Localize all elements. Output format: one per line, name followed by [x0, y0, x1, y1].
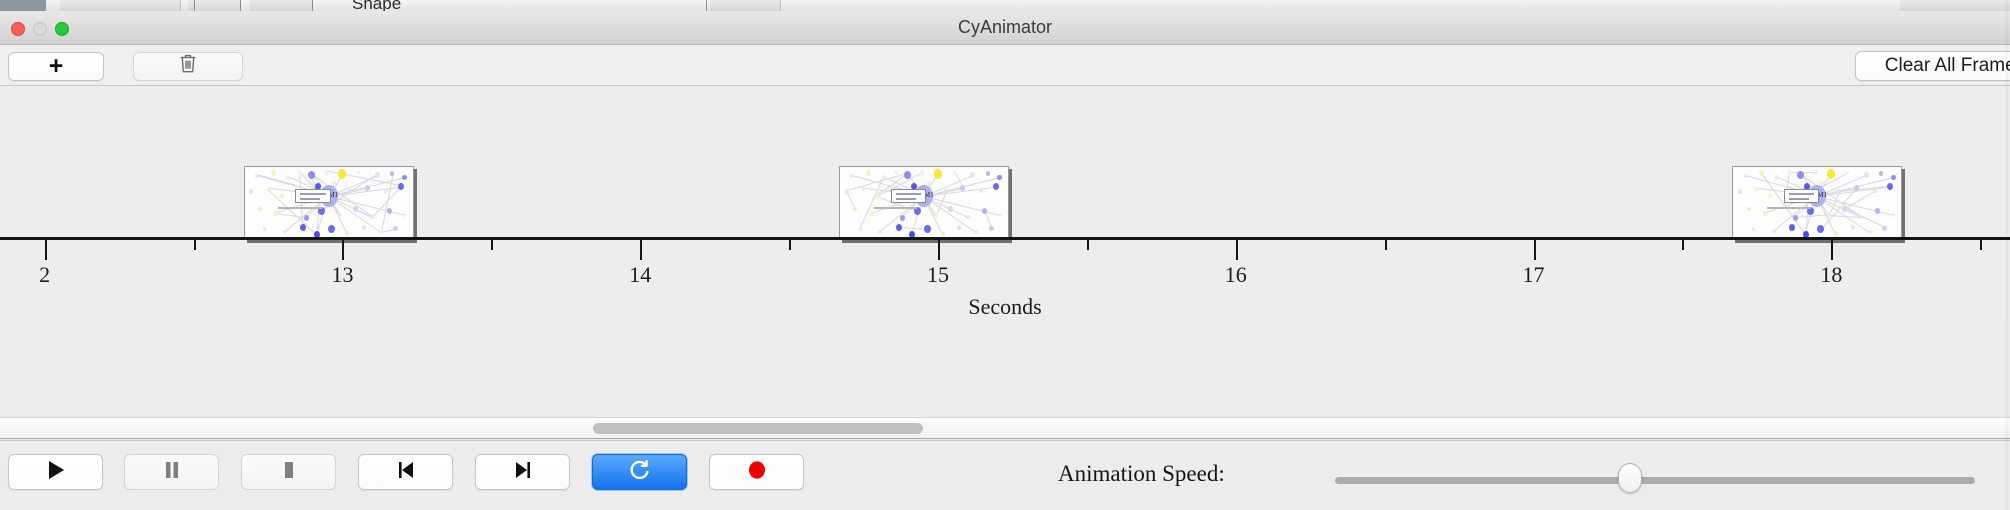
stop-button[interactable]	[241, 454, 336, 490]
timeline-tick-major	[1831, 240, 1833, 260]
graph-node	[370, 215, 374, 220]
graph-node	[255, 174, 258, 177]
timeline-tick-minor	[1385, 240, 1387, 250]
graph-node	[1873, 189, 1877, 194]
graph-node	[1842, 206, 1847, 212]
zoom-button[interactable]	[55, 22, 69, 36]
graph-node	[878, 230, 882, 235]
graph-caption-text	[278, 207, 322, 209]
background-divider	[706, 0, 707, 11]
timeline-frame[interactable]: MCM1	[244, 166, 414, 240]
graph-node	[1834, 231, 1838, 236]
graph-node	[862, 187, 865, 190]
graph-node	[894, 170, 898, 175]
timeline-panel[interactable]: MCM1MCM1MCM1	[0, 86, 2010, 323]
graph-node	[1868, 230, 1872, 235]
graph-edge	[1761, 173, 1805, 235]
graph-node	[859, 227, 862, 230]
graph-node	[390, 171, 394, 176]
graph-node	[986, 171, 990, 176]
timeline-frame[interactable]: MCM1	[1732, 166, 1902, 240]
graph-node	[1775, 175, 1779, 180]
graph-node	[1793, 215, 1798, 221]
background-divider	[240, 0, 241, 11]
graph-node	[989, 226, 994, 232]
graph-node	[283, 230, 287, 235]
graph-node	[1787, 170, 1791, 175]
play-icon	[46, 459, 66, 485]
trash-icon	[178, 53, 198, 80]
delete-frame-button[interactable]	[133, 52, 243, 81]
skip-end-icon	[512, 459, 534, 485]
graph-node	[896, 224, 902, 231]
graph-node	[970, 172, 975, 178]
graph-node	[1772, 230, 1776, 235]
timeline-tick-label: 13	[331, 262, 353, 288]
graph-node	[850, 174, 853, 177]
graph-node	[384, 189, 388, 194]
graph-node	[304, 215, 309, 221]
timeline-tick-major	[1534, 240, 1536, 260]
skip-to-start-button[interactable]	[358, 454, 453, 490]
graph-node	[904, 171, 911, 179]
graph-node	[379, 230, 383, 235]
cyanimator-window: Shape CyAnimator + Clear All	[0, 0, 2010, 510]
frame-thumbnail-image: MCM1	[840, 167, 1008, 239]
graph-node	[1879, 171, 1883, 176]
graph-node	[1859, 215, 1863, 220]
graph-node	[953, 171, 956, 174]
timeline-tick-minor	[491, 240, 493, 250]
graph-node	[882, 175, 886, 180]
graph-node	[1747, 207, 1751, 212]
graph-node	[924, 225, 931, 233]
timeline-tick-minor	[1980, 240, 1982, 250]
background-toolbar-fragment	[710, 0, 781, 11]
playback-control-bar: Animation Speed:	[0, 440, 2010, 510]
skip-start-icon	[395, 459, 417, 485]
graph-node	[1846, 171, 1849, 174]
graph-node	[1768, 194, 1772, 199]
graph-node	[267, 187, 270, 190]
graph-node	[258, 207, 262, 212]
graph-edge	[1796, 215, 1830, 219]
frame-thumbnail-image: MCM1	[1733, 167, 1901, 239]
graph-node	[1851, 225, 1855, 230]
graph-node	[870, 211, 874, 216]
timeline-tick-major	[342, 240, 344, 260]
graph-node	[274, 211, 278, 216]
animation-speed-label: Animation Speed:	[1058, 461, 1225, 487]
timeline-tick-major	[640, 240, 642, 260]
close-button[interactable]	[11, 22, 25, 36]
timeline-tick-label: 15	[927, 262, 949, 288]
background-toolbar-fragment	[1900, 0, 2010, 11]
graph-node	[1814, 170, 1818, 175]
graph-node	[362, 225, 366, 230]
graph-node	[993, 183, 999, 190]
graph-node	[998, 213, 1002, 218]
timeline-tick-minor	[789, 240, 791, 250]
title-bar: CyAnimator	[0, 11, 2010, 45]
graph-node	[402, 213, 406, 218]
graph-node	[300, 224, 306, 231]
graph-node	[853, 207, 857, 212]
graph-node	[1744, 174, 1747, 177]
graph-node	[1738, 189, 1742, 194]
plus-icon: +	[49, 54, 64, 79]
graph-node	[941, 231, 945, 236]
graph-node	[920, 170, 924, 175]
graph-node	[934, 213, 938, 218]
timeline-tick-minor	[194, 240, 196, 250]
graph-node	[365, 185, 370, 191]
graph-node	[345, 231, 349, 236]
pause-icon	[162, 459, 182, 485]
graph-node	[1789, 224, 1795, 231]
traffic-lights	[11, 22, 69, 36]
graph-node	[900, 215, 905, 221]
graph-node	[845, 189, 849, 194]
record-icon	[747, 460, 767, 484]
timeline-tick-major	[1236, 240, 1238, 260]
graph-node	[280, 194, 284, 199]
graph-node	[318, 207, 325, 215]
timeline-hscrollbar[interactable]	[0, 417, 2010, 439]
timeline-tick-label: 16	[1225, 262, 1247, 288]
background-divider	[194, 0, 195, 11]
timeline-hscrollbar-thumb[interactable]	[593, 423, 923, 434]
background-window-label: Shape	[352, 0, 401, 11]
stop-icon	[279, 459, 299, 485]
graph-node	[957, 225, 961, 230]
graph-node	[974, 230, 978, 235]
graph-node	[1797, 171, 1804, 179]
graph-node	[934, 169, 942, 178]
timeline-axis-title: Seconds	[0, 294, 2010, 320]
graph-caption-text	[1767, 207, 1811, 209]
graph-node	[357, 171, 360, 174]
graph-node	[1752, 227, 1755, 230]
graph-node	[1807, 207, 1814, 215]
timeline-tick-minor	[1087, 240, 1089, 250]
graph-node	[997, 175, 1002, 181]
graph-node	[393, 226, 398, 232]
graph-node	[387, 208, 392, 214]
graph-node	[308, 171, 315, 179]
graph-node	[866, 170, 871, 176]
background-toolbar-fragment	[188, 0, 241, 11]
timeline-tick-major	[938, 240, 940, 260]
clear-all-frames-label: Clear All Frames	[1885, 55, 2010, 77]
timeline-tick-label: 14	[629, 262, 651, 288]
graph-node	[338, 213, 342, 218]
graph-node	[1891, 213, 1895, 218]
clear-all-frames-button[interactable]: Clear All Frames	[1855, 51, 2010, 81]
graph-node	[1763, 211, 1767, 216]
minimize-button[interactable]	[33, 22, 47, 36]
graph-node	[1827, 169, 1835, 178]
graph-node	[402, 175, 407, 181]
background-toolbar-fragment	[250, 0, 313, 11]
graph-node	[966, 215, 970, 220]
graph-caption-text	[874, 207, 918, 209]
background-toolbar-fragment	[60, 0, 181, 11]
graph-node	[1875, 208, 1880, 214]
graph-node	[1887, 183, 1893, 190]
graph-annotation-box	[1784, 189, 1820, 203]
graph-node	[1864, 172, 1869, 178]
graph-node	[338, 169, 346, 178]
graph-node	[263, 227, 266, 230]
pause-button[interactable]	[124, 454, 219, 490]
graph-node	[286, 175, 290, 180]
loop-icon	[628, 458, 652, 486]
timeline-axis-line	[0, 237, 2010, 240]
background-window-titlebar-fragment	[0, 0, 46, 11]
timeline-tick-label: 17	[1523, 262, 1545, 288]
timeline-tick-major	[45, 240, 47, 260]
timeline-frame[interactable]: MCM1	[839, 166, 1009, 240]
graph-node	[1891, 175, 1896, 181]
graph-node	[1882, 226, 1887, 232]
toolbar: + Clear All Frames	[0, 45, 2010, 86]
graph-node	[328, 225, 335, 233]
timeline-tick-label: 2	[39, 262, 50, 288]
graph-node	[353, 206, 358, 212]
loop-button[interactable]	[592, 454, 687, 490]
window-title: CyAnimator	[0, 11, 2010, 44]
graph-node	[979, 189, 983, 194]
graph-node	[1817, 225, 1824, 233]
graph-node	[375, 172, 380, 178]
graph-node	[1854, 185, 1859, 191]
skip-to-end-button[interactable]	[475, 454, 570, 490]
graph-annotation-box	[295, 189, 331, 203]
background-window-strip: Shape	[0, 0, 2010, 11]
graph-node	[398, 183, 404, 190]
graph-annotation-box	[891, 189, 927, 203]
graph-node	[271, 170, 276, 176]
frame-thumbnail-image: MCM1	[245, 167, 413, 239]
animation-speed-slider-knob[interactable]	[1618, 463, 1642, 493]
animation-speed-slider-track[interactable]	[1335, 477, 1975, 484]
graph-node	[914, 207, 921, 215]
background-divider	[312, 0, 313, 11]
graph-node	[298, 170, 302, 175]
graph-node	[325, 170, 329, 175]
timeline-tick-minor	[1682, 240, 1684, 250]
play-button[interactable]	[8, 454, 103, 490]
add-frame-button[interactable]: +	[8, 52, 104, 81]
timeline-tick-label: 18	[1820, 262, 1842, 288]
graph-node	[249, 189, 253, 194]
record-button[interactable]	[709, 454, 804, 490]
graph-node	[944, 189, 948, 194]
graph-node	[332, 181, 336, 186]
